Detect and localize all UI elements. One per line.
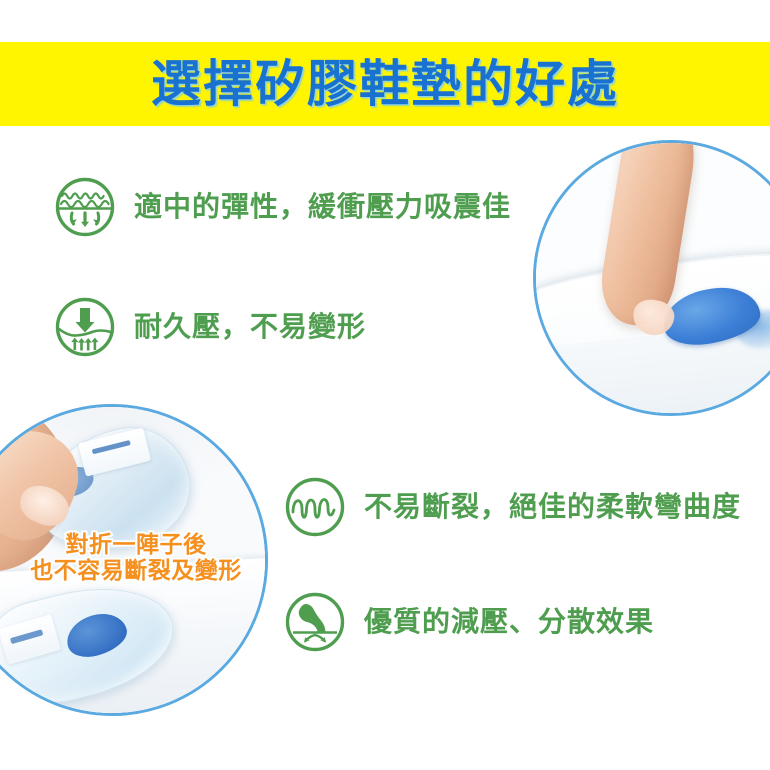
title-banner: 選擇矽膠鞋墊的好處 (0, 42, 770, 126)
feature-item-flexibility: 不易斷裂，絕佳的柔軟彎曲度 (284, 476, 741, 538)
page-title: 選擇矽膠鞋墊的好處 (151, 59, 619, 109)
elasticity-cushion-icon (54, 176, 116, 238)
feature-item-durability: 耐久壓，不易變形 (54, 296, 366, 358)
durable-pressure-icon (54, 296, 116, 358)
feature-label-durability: 耐久壓，不易變形 (134, 313, 366, 341)
feature-item-elasticity: 適中的彈性，緩衝壓力吸震佳 (54, 176, 511, 238)
feature-label-pressure-spread: 優質的減壓、分散效果 (364, 608, 654, 636)
finger-pressing-gel-insole-photo (533, 140, 770, 416)
fold-caption-line-2: 也不容易斷裂及變形 (14, 559, 258, 585)
fold-caption-line-1: 對折一陣子後 (14, 533, 258, 559)
feature-label-elasticity: 適中的彈性，緩衝壓力吸震佳 (134, 193, 511, 221)
feature-item-pressure-spread: 優質的減壓、分散效果 (284, 591, 654, 653)
flexible-wave-icon (284, 476, 346, 538)
feature-label-flexibility: 不易斷裂，絕佳的柔軟彎曲度 (364, 493, 741, 521)
infographic-page: 選擇矽膠鞋墊的好處 對折一陣子後 也不容易斷裂及變形 (0, 0, 770, 770)
foot-pressure-spread-icon (284, 591, 346, 653)
fold-photo-caption: 對折一陣子後 也不容易斷裂及變形 (14, 533, 258, 585)
